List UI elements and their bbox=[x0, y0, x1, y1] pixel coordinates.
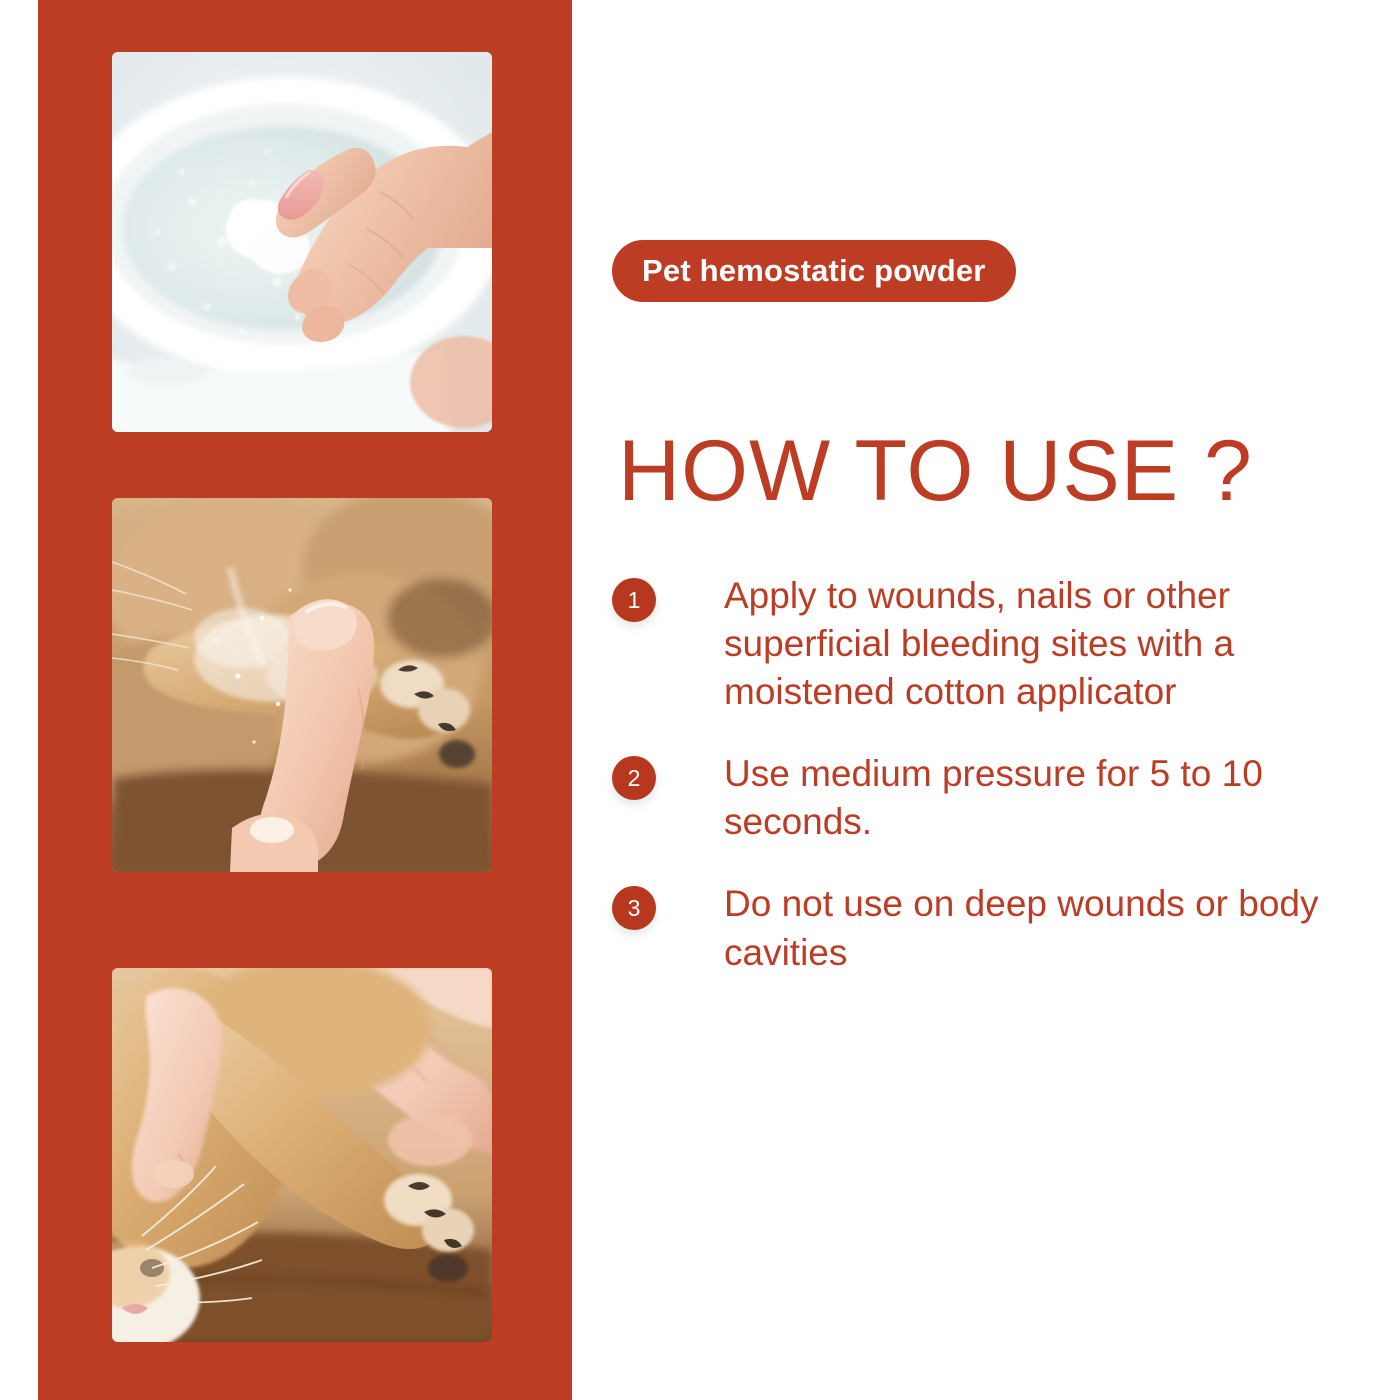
page-title: HOW TO USE ? bbox=[618, 426, 1253, 516]
photo-cat-paw-hold-art bbox=[112, 968, 492, 1342]
product-badge: Pet hemostatic powder bbox=[612, 240, 1016, 302]
instruction-step: 2 Use medium pressure for 5 to 10 second… bbox=[612, 750, 1360, 846]
instruction-steps-list: 1 Apply to wounds, nails or other superf… bbox=[612, 572, 1360, 977]
step-text: Apply to wounds, nails or other superfic… bbox=[724, 572, 1360, 716]
step-text: Use medium pressure for 5 to 10 seconds. bbox=[724, 750, 1360, 846]
photo-applying-powder-art bbox=[112, 498, 492, 872]
step-text: Do not use on deep wounds or body caviti… bbox=[724, 880, 1360, 976]
step-number-badge: 3 bbox=[612, 886, 656, 930]
photo-cat-paw-hold bbox=[112, 968, 492, 1342]
instruction-step: 1 Apply to wounds, nails or other superf… bbox=[612, 572, 1360, 716]
product-badge-label: Pet hemostatic powder bbox=[642, 253, 986, 289]
step-number-badge: 2 bbox=[612, 756, 656, 800]
content-column: Pet hemostatic powder HOW TO USE ? 1 App… bbox=[612, 0, 1372, 1400]
instruction-step: 3 Do not use on deep wounds or body cavi… bbox=[612, 880, 1360, 976]
photo-powder-tub bbox=[112, 52, 492, 432]
photo-powder-tub-art bbox=[112, 52, 492, 432]
photo-applying-powder bbox=[112, 498, 492, 872]
step-number-badge: 1 bbox=[612, 578, 656, 622]
